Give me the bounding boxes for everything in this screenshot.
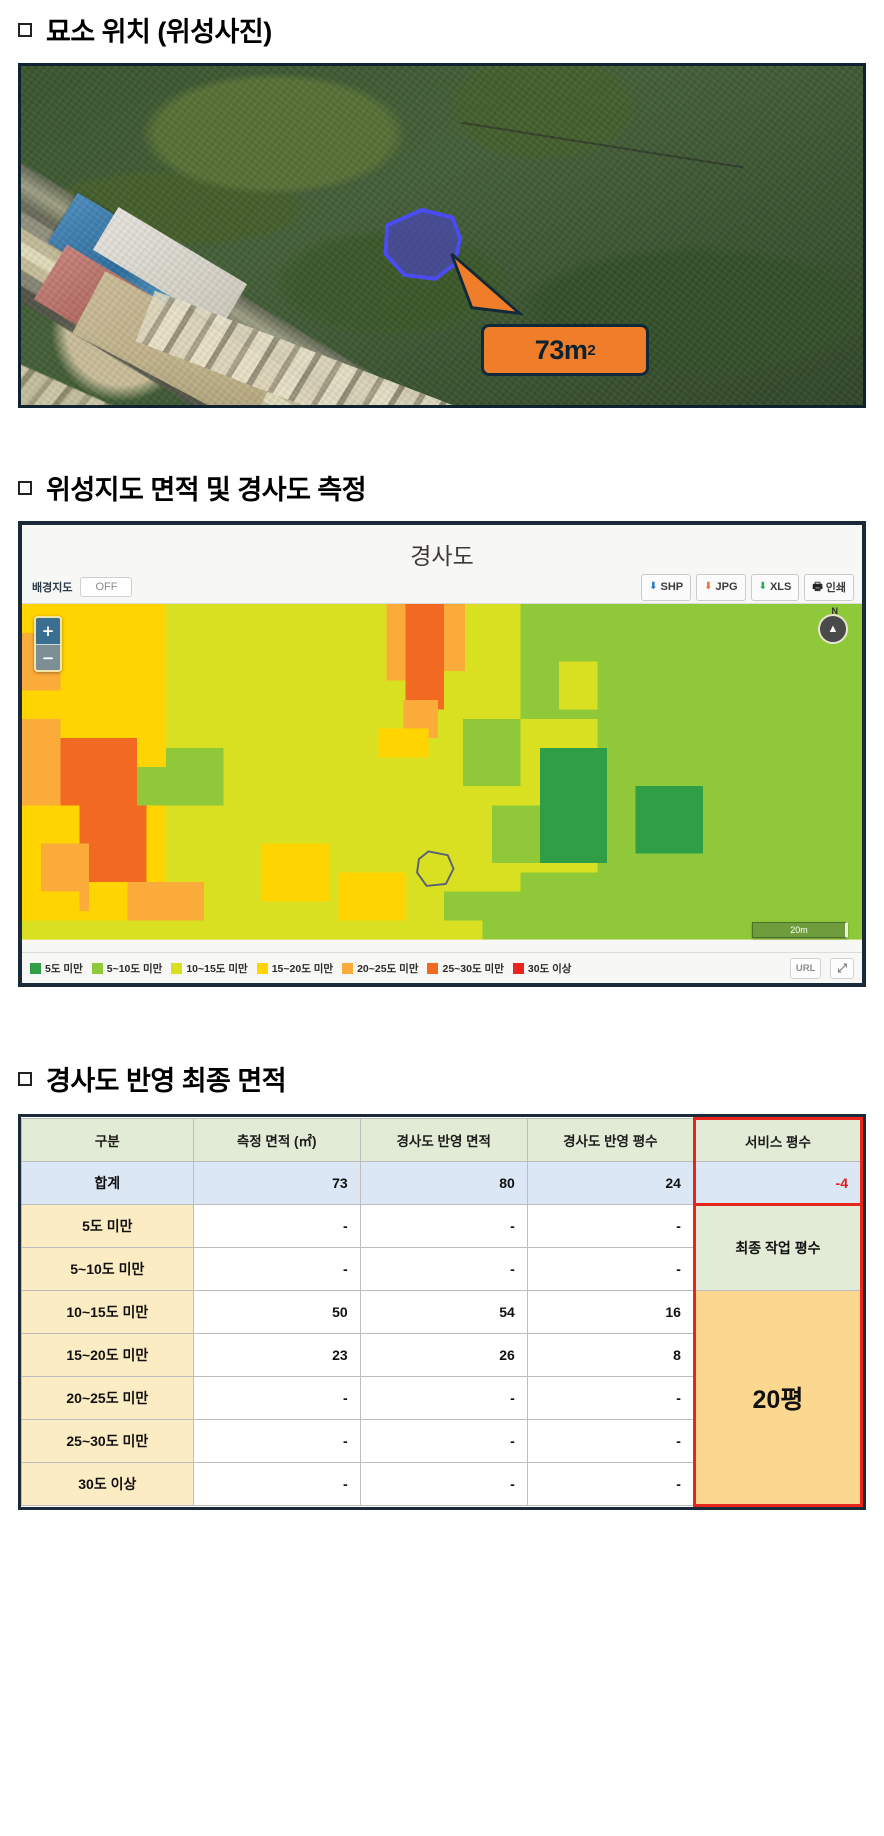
cell-slope-area: - — [360, 1248, 527, 1291]
print-label: 인쇄 — [826, 579, 846, 595]
cell-measured: - — [193, 1205, 360, 1248]
cell-category: 5도 미만 — [22, 1205, 194, 1248]
cell-category: 10~15도 미만 — [22, 1291, 194, 1334]
download-jpg-label: JPG — [716, 581, 738, 593]
legend-label: 10~15도 미만 — [186, 961, 247, 976]
table-row-total: 합계 73 80 24 -4 — [22, 1162, 862, 1205]
slope-map-panel: 경사도 배경지도 OFF ⬇ SHP ⬇ JPG ⬇ XLS — [18, 521, 866, 987]
cell-slope-area: - — [360, 1420, 527, 1463]
map-scale-bar: 20m — [752, 922, 848, 938]
download-shp-button[interactable]: ⬇ SHP — [641, 574, 691, 601]
legend-item: 5~10도 미만 — [92, 961, 163, 976]
area-exponent: 2 — [587, 342, 595, 359]
legend-swatch-icon — [92, 963, 103, 974]
cell-slope-pyeong: - — [527, 1420, 694, 1463]
satellite-photo: 73m2 — [18, 63, 866, 408]
cell-slope-pyeong: - — [527, 1248, 694, 1291]
table-header-row: 구분 측정 면적 (㎡) 경사도 반영 면적 경사도 반영 평수 서비스 평수 — [22, 1119, 862, 1162]
legend-item: 5도 미만 — [30, 961, 83, 976]
legend-swatch-icon — [171, 963, 182, 974]
cell-category: 30도 이상 — [22, 1463, 194, 1506]
print-button[interactable]: 🖶 인쇄 — [804, 574, 854, 601]
cell-measured: - — [193, 1248, 360, 1291]
table-row: 5도 미만 - - - 최종 작업 평수 — [22, 1205, 862, 1248]
zoom-out-button[interactable]: − — [36, 644, 60, 670]
legend-label: 20~25도 미만 — [357, 961, 418, 976]
map-zoom-control[interactable]: + − — [34, 616, 62, 672]
cell-measured: - — [193, 1420, 360, 1463]
area-value: 73 — [535, 335, 564, 366]
page-title-slope-measure: 위성지도 면적 및 경사도 측정 — [0, 408, 884, 521]
slope-map-title: 경사도 — [22, 525, 862, 575]
cell-slope-pyeong: - — [527, 1205, 694, 1248]
north-arrow-icon: ▲ — [818, 614, 848, 644]
col-header-measured-area: 측정 면적 (㎡) — [193, 1119, 360, 1162]
download-xls-button[interactable]: ⬇ XLS — [751, 574, 800, 601]
legend-swatch-icon — [30, 963, 41, 974]
cell-slope-area: - — [360, 1205, 527, 1248]
download-xls-label: XLS — [770, 581, 791, 593]
slope-legend: 5도 미만 5~10도 미만 10~15도 미만 15~20도 미만 20~25… — [22, 953, 862, 983]
table-row: 10~15도 미만 50 54 16 20평 — [22, 1291, 862, 1334]
printer-icon: 🖶 — [812, 578, 822, 597]
cell-category: 25~30도 미만 — [22, 1420, 194, 1463]
square-bullet-icon — [18, 1072, 32, 1086]
legend-label: 15~20도 미만 — [272, 961, 333, 976]
area-callout-badge: 73m2 — [481, 324, 649, 376]
cell-category: 15~20도 미만 — [22, 1334, 194, 1377]
section-heading-text: 묘소 위치 (위성사진) — [46, 10, 272, 49]
legend-label: 5도 미만 — [45, 961, 83, 976]
basemap-toggle[interactable]: 배경지도 OFF — [32, 577, 132, 597]
section-heading-text: 경사도 반영 최종 면적 — [46, 1059, 286, 1098]
basemap-label: 배경지도 — [32, 579, 72, 595]
final-pyeong-label: 최종 작업 평수 — [694, 1205, 861, 1291]
square-bullet-icon — [18, 23, 32, 37]
legend-label: 25~30도 미만 — [442, 961, 503, 976]
final-pyeong-value: 20평 — [694, 1291, 861, 1506]
col-header-category: 구분 — [22, 1119, 194, 1162]
download-shp-label: SHP — [661, 581, 684, 593]
legend-item: 25~30도 미만 — [427, 961, 503, 976]
cell-total-label: 합계 — [22, 1162, 194, 1205]
cell-measured: - — [193, 1463, 360, 1506]
legend-swatch-icon — [342, 963, 353, 974]
final-area-table: 구분 측정 면적 (㎡) 경사도 반영 면적 경사도 반영 평수 서비스 평수 … — [21, 1117, 863, 1507]
cell-slope-area: - — [360, 1377, 527, 1420]
download-icon: ⬇ — [649, 582, 657, 592]
basemap-off-button[interactable]: OFF — [80, 577, 132, 597]
legend-swatch-icon — [513, 963, 524, 974]
page-title-satellite-photo: 묘소 위치 (위성사진) — [0, 0, 884, 63]
cell-slope-area: 26 — [360, 1334, 527, 1377]
download-icon: ⬇ — [759, 582, 767, 592]
cell-total-service-pyeong: -4 — [694, 1162, 861, 1205]
col-header-service-pyeong: 서비스 평수 — [694, 1119, 861, 1162]
section-heading-text: 위성지도 면적 및 경사도 측정 — [46, 468, 366, 507]
grave-plot-polygon — [21, 66, 863, 397]
col-header-slope-area: 경사도 반영 면적 — [360, 1119, 527, 1162]
cell-category: 5~10도 미만 — [22, 1248, 194, 1291]
cell-category: 20~25도 미만 — [22, 1377, 194, 1420]
cell-measured: - — [193, 1377, 360, 1420]
col-header-slope-pyeong: 경사도 반영 평수 — [527, 1119, 694, 1162]
grave-plot-outline — [22, 604, 862, 940]
legend-label: 5~10도 미만 — [107, 961, 163, 976]
final-area-table-wrapper: 구분 측정 면적 (㎡) 경사도 반영 면적 경사도 반영 평수 서비스 평수 … — [18, 1114, 866, 1510]
satellite-imagery: 73m2 — [21, 66, 863, 405]
slope-map-toolbar: 배경지도 OFF ⬇ SHP ⬇ JPG ⬇ XLS 🖶 인쇄 — [22, 575, 862, 603]
cell-total-measured: 73 — [193, 1162, 360, 1205]
report-page: 묘소 위치 (위성사진) 73m2 위성지도 면적 및 경사도 — [0, 0, 884, 1510]
legend-item: 15~20도 미만 — [257, 961, 333, 976]
legend-label: 30도 이상 — [528, 961, 572, 976]
legend-item: 10~15도 미만 — [171, 961, 247, 976]
cell-slope-pyeong: 8 — [527, 1334, 694, 1377]
download-jpg-button[interactable]: ⬇ JPG — [696, 574, 745, 601]
cell-slope-pyeong: - — [527, 1463, 694, 1506]
area-unit: m — [564, 335, 588, 366]
export-button-group: ⬇ SHP ⬇ JPG ⬇ XLS 🖶 인쇄 — [641, 574, 854, 601]
cell-slope-area: 54 — [360, 1291, 527, 1334]
page-title-final-area: 경사도 반영 최종 면적 — [0, 987, 884, 1114]
cell-measured: 23 — [193, 1334, 360, 1377]
url-button[interactable]: URL — [790, 958, 822, 979]
zoom-in-button[interactable]: + — [36, 618, 60, 644]
download-icon: ⬇ — [704, 582, 712, 592]
legend-item: 30도 이상 — [513, 961, 572, 976]
cell-slope-pyeong: - — [527, 1377, 694, 1420]
cell-total-slope-area: 80 — [360, 1162, 527, 1205]
cell-slope-area: - — [360, 1463, 527, 1506]
fullscreen-button[interactable]: ⤢ — [830, 958, 854, 979]
legend-item: 20~25도 미만 — [342, 961, 418, 976]
slope-raster-map[interactable]: + − N ▲ 20m — [22, 603, 862, 953]
legend-swatch-icon — [257, 963, 268, 974]
square-bullet-icon — [18, 481, 32, 495]
cell-slope-pyeong: 16 — [527, 1291, 694, 1334]
legend-swatch-icon — [427, 963, 438, 974]
cell-measured: 50 — [193, 1291, 360, 1334]
cell-total-slope-pyeong: 24 — [527, 1162, 694, 1205]
